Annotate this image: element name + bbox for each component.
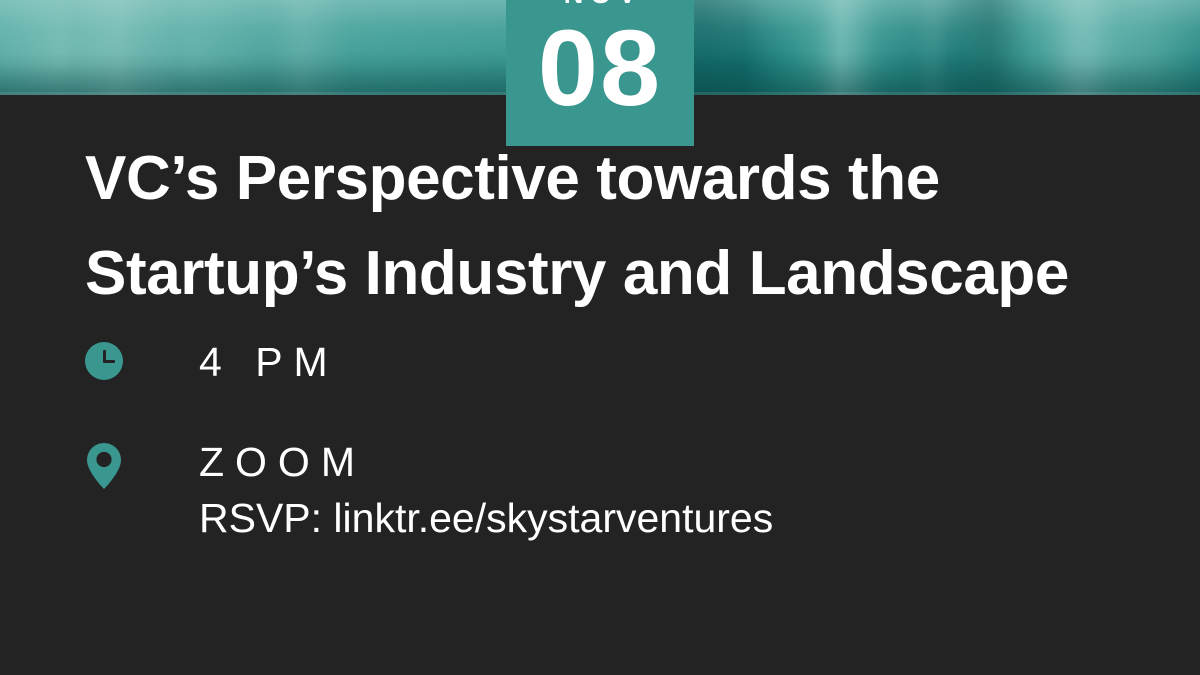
event-poster: NOV 08 VC’s Perspective towards the Star… — [0, 0, 1200, 675]
location-text-group: ZOOM RSVP: linktr.ee/skystarventures — [131, 440, 773, 546]
time-icon-slot — [85, 340, 131, 380]
date-badge: NOV 08 — [506, 0, 694, 146]
event-title: VC’s Perspective towards the Startup’s I… — [85, 131, 1125, 321]
event-title-line-2: Startup’s Industry and Landscape — [85, 226, 1125, 321]
clock-hand-hour — [103, 360, 115, 363]
date-badge-day: 08 — [538, 4, 662, 131]
event-time-row: 4 PM — [85, 340, 339, 384]
event-location-value: ZOOM — [199, 440, 773, 484]
clock-icon — [85, 342, 123, 380]
event-time-value: 4 PM — [199, 340, 339, 384]
map-pin-icon — [85, 442, 123, 490]
location-icon-slot — [85, 440, 131, 490]
event-rsvp-link[interactable]: RSVP: linktr.ee/skystarventures — [199, 490, 773, 546]
event-location-row: ZOOM RSVP: linktr.ee/skystarventures — [85, 440, 773, 546]
time-text-group: 4 PM — [131, 340, 339, 384]
